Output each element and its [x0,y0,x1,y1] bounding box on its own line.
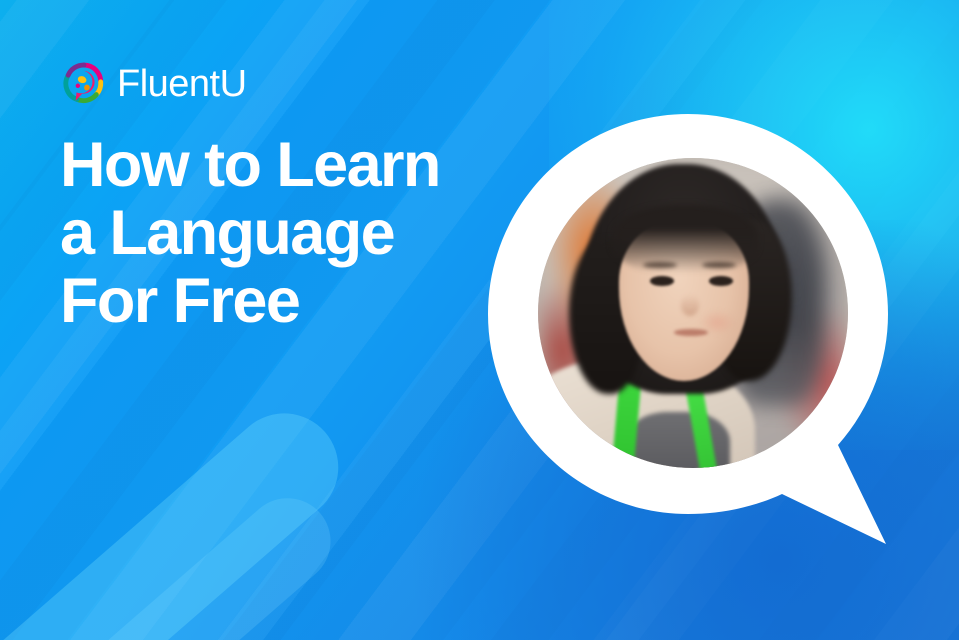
accent-bar-secondary [0,481,348,640]
speech-bubble [486,112,890,552]
globe-speech-bubble-icon [62,62,106,106]
page-title-line-1: How to Learn [60,131,560,199]
brand-wordmark: FluentU [117,65,247,103]
banner-canvas: FluentU How to Learn a Language For Free [0,0,959,640]
page-title-line-2: a Language [60,199,560,267]
portrait-photo [538,158,848,468]
brand-logo-lockup[interactable]: FluentU [62,62,247,106]
page-title: How to Learn a Language For Free [60,131,560,335]
page-title-line-3: For Free [60,267,560,335]
accent-bar-primary [0,391,360,640]
